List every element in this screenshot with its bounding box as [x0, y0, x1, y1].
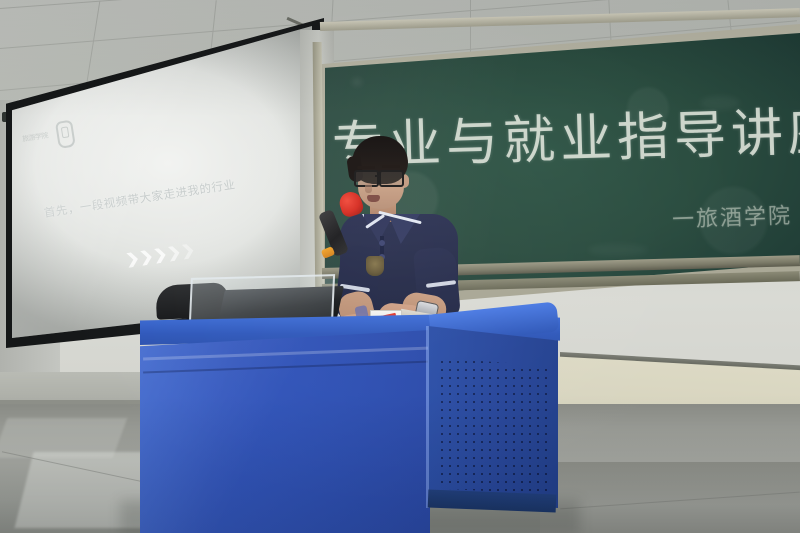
glasses-lens-right — [379, 170, 404, 187]
blackboard-smudge — [588, 244, 648, 256]
photograph: 旅游学院 首先，一段视频带大家走进我的行业 专业与就业指导讲座 一旅酒学院 — [0, 0, 800, 533]
podium-edge-highlight — [426, 326, 429, 508]
chevron-right-icon — [168, 245, 181, 261]
speaker-shirt-button — [379, 240, 385, 246]
chevron-right-icon — [182, 243, 195, 259]
chevron-right-icon — [126, 251, 139, 267]
slide-logo-label: 旅游学院 — [21, 131, 48, 145]
floor-reflection — [0, 418, 127, 458]
blackboard-smudge — [352, 78, 362, 86]
podium-front-panel[interactable] — [140, 330, 430, 533]
speaker-nose — [365, 183, 372, 193]
glasses-icon — [354, 170, 408, 184]
speaker-mouth — [367, 195, 380, 202]
blackboard-subheading: 一旅酒学院 — [671, 198, 792, 234]
chevron-right-icon — [140, 249, 153, 265]
slide-logo-mark — [55, 120, 76, 149]
speaker-eyebrow — [357, 166, 375, 169]
speaker-shirt-emblem — [366, 256, 384, 276]
speaker-eyebrow — [382, 165, 400, 168]
chevron-right-icon — [154, 247, 167, 263]
podium-perforated-panel — [438, 358, 550, 494]
podium-acrylic-cover[interactable] — [189, 274, 335, 324]
